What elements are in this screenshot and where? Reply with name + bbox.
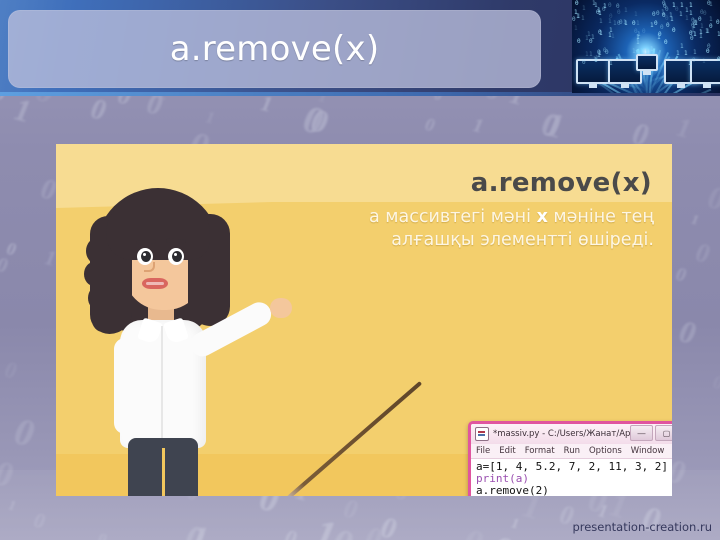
binary-bit: 0	[706, 48, 710, 55]
binary-bit: 0	[709, 23, 713, 30]
binary-bit: 1	[694, 20, 698, 27]
binary-bit: 0	[589, 38, 593, 45]
binary-bit: 0	[672, 27, 676, 34]
binary-bit: 1	[688, 60, 692, 67]
binary-bit: 0	[652, 11, 656, 18]
code-editor-area[interactable]: a=[1, 4, 5.2, 7, 2, 11, 3, 2] print(a) a…	[471, 459, 672, 496]
idle-title-text: *massiv.py - C:/Users/Жанат/AppData/Loca…	[493, 429, 653, 439]
menu-item-file[interactable]: File	[476, 446, 490, 456]
binary-bit: 1	[585, 51, 589, 58]
binary-bit: 1	[709, 16, 713, 23]
binary-bit: 0	[603, 47, 607, 54]
hand-right	[270, 298, 292, 318]
binary-bit: 1	[693, 49, 697, 56]
menu-item-edit[interactable]: Edit	[499, 446, 515, 456]
python-file-icon	[475, 427, 489, 441]
binary-bit: 1	[650, 22, 654, 29]
menu-item-format[interactable]: Format	[525, 446, 555, 456]
binary-bit: 1	[587, 31, 591, 38]
binary-bit: 0	[609, 13, 613, 20]
binary-bit: 0	[656, 10, 660, 17]
arm-left	[114, 338, 136, 434]
description-line2: алғашқы элементті өшіреді.	[391, 230, 654, 250]
binary-bit: 0	[662, 12, 666, 19]
shirt-placket	[161, 326, 163, 438]
binary-bit: 1	[624, 7, 628, 14]
binary-bit: 1	[599, 30, 603, 37]
watermark: presentation-creation.ru	[572, 520, 712, 534]
binary-bit: 1	[709, 1, 713, 8]
binary-bit: 1	[689, 10, 693, 17]
window-controls: — ▢ ✕	[630, 425, 672, 441]
binary-bit: 0	[582, 59, 586, 66]
binary-bit: 1	[684, 50, 688, 57]
binary-bit: 1	[609, 60, 613, 67]
binary-bit: 0	[654, 20, 658, 27]
presentation-slide: 1000010010000000000100101011111011111110…	[0, 0, 720, 540]
binary-bit: 0	[664, 39, 668, 46]
binary-bit: 1	[597, 7, 601, 14]
binary-bit: 0	[658, 31, 662, 38]
binary-bit: 1	[636, 39, 640, 46]
binary-bit: 1	[581, 15, 585, 22]
binary-bit: 0	[642, 28, 646, 35]
page-title: a.remove(x)	[8, 10, 541, 88]
eyebrow-right	[166, 239, 186, 244]
menu-item-run[interactable]: Run	[564, 446, 580, 456]
binary-bit: 0	[666, 22, 670, 29]
menu-item-window[interactable]: Window	[631, 446, 665, 456]
binary-bit: 1	[634, 11, 638, 18]
binary-bit: 0	[663, 3, 667, 10]
description-line1-suffix: мәніне тең	[548, 207, 654, 227]
minimize-button[interactable]: —	[630, 425, 653, 441]
digital-monitors-image: 0111000011101101100001110000101111010110…	[572, 0, 720, 93]
binary-bit: 0	[642, 48, 646, 55]
menu-item-options[interactable]: Options	[589, 446, 622, 456]
binary-bit: 1	[574, 25, 578, 32]
eye-glint-right	[174, 253, 177, 256]
hair-front	[106, 194, 210, 260]
binary-bit: 1	[603, 3, 607, 10]
leg-gap	[162, 448, 165, 496]
binary-bit: 1	[636, 20, 640, 27]
binary-bit: 1	[679, 11, 683, 18]
binary-bit: 1	[597, 52, 601, 59]
binary-bit: 1	[650, 46, 654, 53]
binary-bit: 1	[702, 58, 706, 65]
idle-title-bar[interactable]: *massiv.py - C:/Users/Жанат/AppData/Loca…	[471, 424, 672, 444]
binary-bit: 0	[617, 9, 621, 16]
binary-bit: 1	[592, 0, 596, 7]
binary-bit: 1	[609, 27, 613, 34]
binary-bit: 1	[623, 19, 627, 26]
binary-bit: 0	[617, 20, 621, 27]
binary-bit: 0	[698, 16, 702, 23]
slide-heading: a.remove(x)	[471, 168, 652, 198]
binary-bit: 1	[680, 2, 684, 9]
binary-bit: 1	[613, 20, 617, 27]
binary-bit: 1	[632, 48, 636, 55]
idle-menu-bar: File Edit Format Run Options Window Help	[471, 444, 672, 459]
binary-bit: 0	[575, 0, 579, 7]
binary-bit: 0	[572, 16, 576, 23]
binary-bit: 1	[582, 5, 586, 12]
binary-bit: 1	[680, 43, 684, 50]
binary-bit: 0	[608, 2, 612, 9]
teacher-character	[84, 186, 294, 496]
binary-bit: 0	[577, 38, 581, 45]
binary-bit: 1	[672, 2, 676, 9]
maximize-button[interactable]: ▢	[655, 425, 672, 441]
illustration-panel: a.remove(x) a массивтегі мәні x мәніне т…	[56, 144, 672, 496]
description-prefix: a	[369, 207, 380, 227]
lips	[142, 278, 168, 289]
binary-bit: 1	[699, 29, 703, 36]
binary-bit: 0	[692, 57, 696, 64]
binary-bit: 1	[611, 33, 615, 40]
description-bold-x: x	[537, 207, 548, 227]
binary-bit: 1	[676, 50, 680, 57]
binary-bit: 1	[599, 18, 603, 25]
binary-bit: 1	[669, 12, 673, 19]
binary-bit: 0	[700, 9, 704, 16]
description-line1: массивтегі мәні	[380, 207, 537, 227]
binary-bit: 0	[716, 19, 720, 26]
binary-bit: 0	[660, 24, 664, 31]
idle-code-window[interactable]: *massiv.py - C:/Users/Жанат/AppData/Loca…	[468, 421, 672, 496]
eye-glint-left	[143, 253, 146, 256]
binary-bit: 1	[577, 13, 581, 20]
binary-bit: 1	[689, 2, 693, 9]
monitor-icon	[636, 54, 658, 71]
code-line: a.remove(2)	[476, 485, 672, 496]
